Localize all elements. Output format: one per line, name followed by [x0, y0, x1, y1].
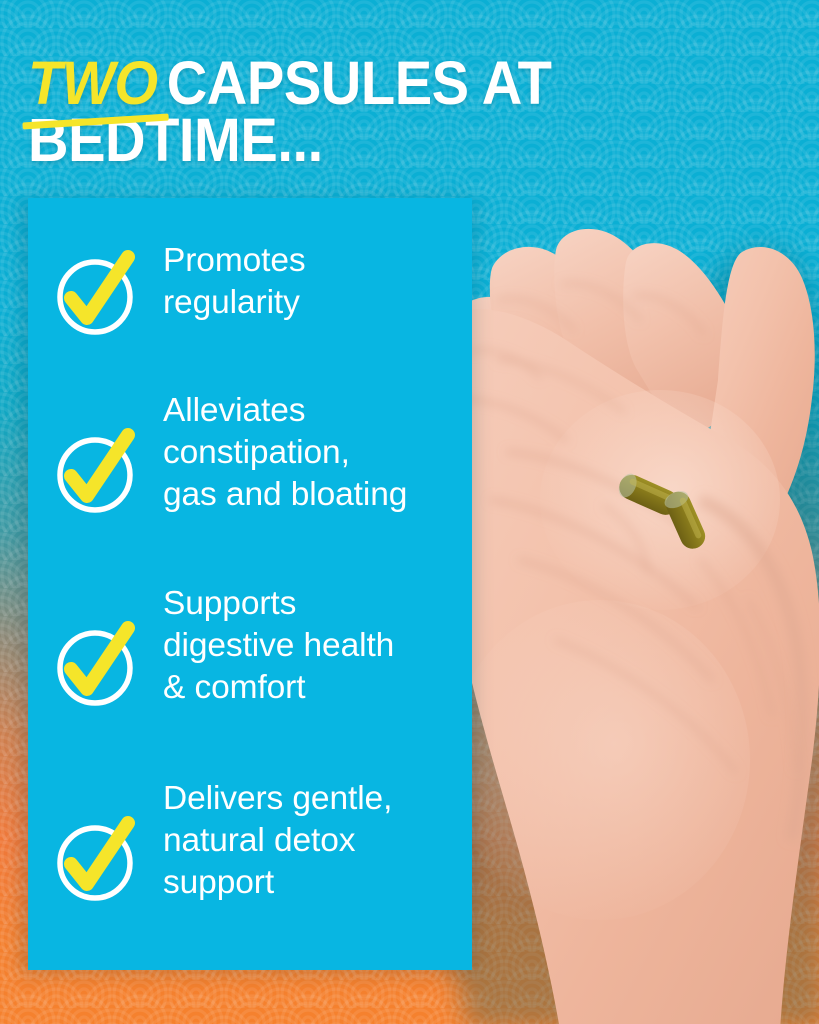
headline-emphasis-word: TWO	[28, 55, 165, 112]
check-circle-icon	[54, 252, 140, 338]
benefit-line: Delivers gentle,	[163, 778, 460, 820]
list-item-label: Supports digestive health & comfort	[140, 583, 460, 710]
list-item: Alleviates constipation, gas and bloatin…	[54, 390, 460, 517]
benefit-line: support	[163, 862, 460, 904]
benefits-list: Promotes regularity Alleviates constipat…	[28, 198, 472, 970]
benefit-line: digestive health	[163, 625, 460, 667]
promo-poster: TWOCAPSULES AT BEDTIME... Promotes regul…	[0, 0, 819, 1024]
benefit-line: Alleviates	[163, 390, 460, 432]
benefit-line: gas and bloating	[163, 474, 460, 516]
headline-line-1: TWOCAPSULES AT	[28, 55, 736, 112]
headline-emphasis-text: TWO	[28, 49, 158, 117]
list-item: Supports digestive health & comfort	[54, 583, 460, 710]
benefit-line: Supports	[163, 583, 460, 625]
benefit-line: regularity	[163, 282, 460, 324]
benefits-card: Promotes regularity Alleviates constipat…	[28, 198, 472, 970]
check-circle-icon	[54, 818, 140, 904]
list-item-label: Alleviates constipation, gas and bloatin…	[140, 390, 460, 517]
list-item: Delivers gentle, natural detox support	[54, 778, 460, 905]
page-title: TWOCAPSULES AT BEDTIME...	[28, 55, 736, 168]
benefit-line: natural detox	[163, 820, 460, 862]
list-item: Promotes regularity	[54, 240, 460, 338]
benefit-line: constipation,	[163, 432, 460, 474]
list-item-label: Promotes regularity	[140, 240, 460, 324]
check-circle-icon	[54, 623, 140, 709]
benefit-line: Promotes	[163, 240, 460, 282]
list-item-label: Delivers gentle, natural detox support	[140, 778, 460, 905]
check-circle-icon	[54, 430, 140, 516]
benefit-line: & comfort	[163, 667, 460, 709]
